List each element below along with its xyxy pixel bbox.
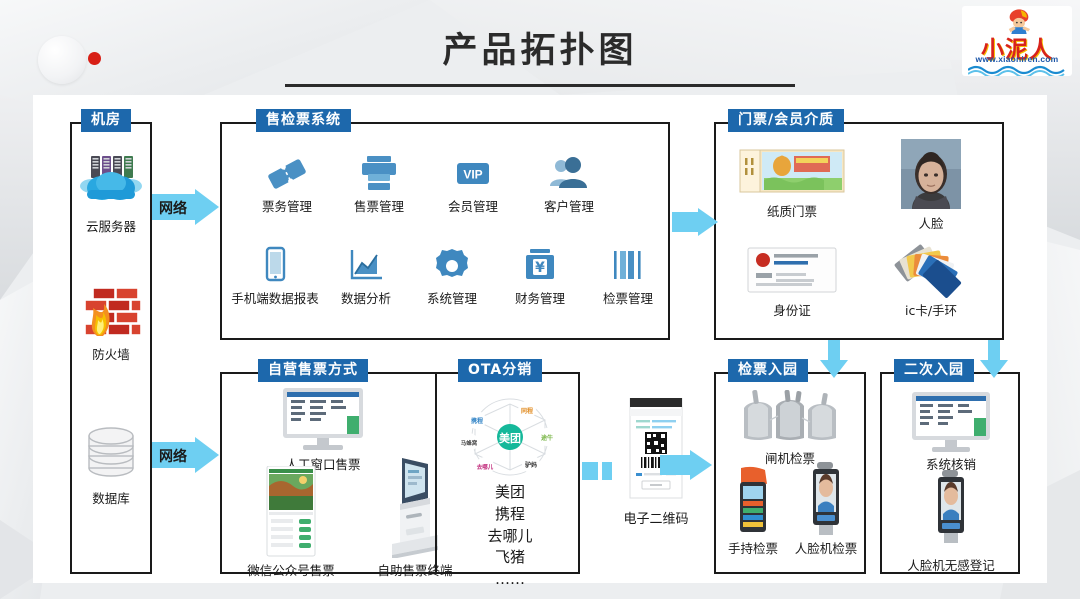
item-customer-mgmt: 客户管理 <box>522 154 616 215</box>
section-reentry: 二次入园 系统核销 <box>880 372 1020 574</box>
section-self-sales: 自营售票方式 人工窗口售票 <box>220 372 580 574</box>
item-firewall-label: 防火墙 <box>72 347 150 363</box>
item-data-analysis-label: 数据分析 <box>322 291 410 307</box>
item-id-card: 身份证 <box>728 242 856 319</box>
item-face-passive-label: 人脸机无感登记 <box>888 558 1014 574</box>
item-cloud-server: 云服务器 <box>72 152 150 235</box>
ota-partner-item: 去哪儿 <box>444 526 576 548</box>
face-terminal-icon <box>932 470 970 544</box>
arrowhead-icon <box>195 187 219 227</box>
section-self-sales-tag: 自营售票方式 <box>258 359 368 382</box>
item-data-analysis: 数据分析 <box>322 246 410 307</box>
printer-icon <box>357 154 401 194</box>
item-cloud-server-label: 云服务器 <box>72 219 150 235</box>
item-member-mgmt: VIP 会员管理 <box>426 154 520 215</box>
item-ticket-mgmt: 票务管理 <box>240 154 334 215</box>
wechat-phone-icon <box>257 466 325 558</box>
item-face-passive: 人脸机无感登记 <box>888 470 1014 574</box>
section-reentry-tag: 二次入园 <box>894 359 974 382</box>
face-photo-icon <box>900 138 962 210</box>
item-ic-card: ic卡/手环 <box>871 240 991 319</box>
item-face-terminal: 人脸机检票 <box>786 462 866 557</box>
svg-text:VIP: VIP <box>463 168 482 182</box>
section-check-in: 检票入园 闸机检票 <box>714 372 866 574</box>
item-ic-card-label: ic卡/手环 <box>871 303 991 319</box>
item-handheld: 手持检票 <box>714 466 792 557</box>
item-face-label: 人脸 <box>871 216 991 232</box>
desktop-monitor-icon <box>908 390 994 452</box>
item-database-label: 数据库 <box>72 491 150 507</box>
svg-text:¥: ¥ <box>535 260 545 276</box>
arrowhead-icon <box>690 448 712 482</box>
item-finance-mgmt: ¥ 财务管理 <box>496 246 584 307</box>
brand-logo: 小泥人 www.xiaoniren.com <box>962 6 1072 76</box>
chart-icon <box>344 246 388 286</box>
database-icon <box>80 424 142 486</box>
ticket-icon <box>265 154 309 194</box>
section-check-in-tag: 检票入园 <box>728 359 808 382</box>
mobile-icon <box>257 246 293 286</box>
svg-text:去哪儿: 去哪儿 <box>477 463 494 471</box>
ota-partner-list: 美团 携程 去哪儿 飞猪 …… <box>444 482 576 591</box>
item-mobile-report: 手机端数据报表 <box>226 246 324 307</box>
cloud-server-icon <box>78 152 144 214</box>
arrow-network-top-label: 网络 <box>159 198 187 218</box>
title-underline <box>285 84 795 87</box>
item-wechat-sales-label: 微信公众号售票 <box>224 563 358 579</box>
section-ticket-media-tag: 门票/会员介质 <box>728 109 844 132</box>
item-customer-mgmt-label: 客户管理 <box>522 199 616 215</box>
user-icon <box>546 154 592 194</box>
wave-icon <box>968 64 1066 76</box>
section-ticketing-system-tag: 售检票系统 <box>256 109 351 132</box>
arrow-media-to-checkin <box>820 340 848 378</box>
item-system-mgmt-label: 系统管理 <box>408 291 496 307</box>
item-database: 数据库 <box>72 424 150 507</box>
item-handheld-label: 手持检票 <box>714 541 792 557</box>
arrowhead-icon <box>195 435 219 475</box>
arrow-system-to-media <box>672 212 718 232</box>
svg-text:驴妈: 驴妈 <box>525 461 537 469</box>
item-ticket-mgmt-label: 票务管理 <box>240 199 334 215</box>
ota-network-icon: 美团 携程 同程 马蜂窝 途牛 去哪儿 驴 <box>455 392 565 482</box>
svg-text:同程: 同程 <box>521 407 533 415</box>
barcode-icon <box>607 246 649 286</box>
page-title-wrapper: 产品拓扑图 <box>0 22 1080 73</box>
turnstile-gate-icon <box>736 390 844 446</box>
logo-url-text: www.xiaoniren.com <box>962 54 1072 64</box>
face-terminal-icon <box>807 462 845 536</box>
arrow-sales-to-qr <box>582 462 614 480</box>
item-wechat-sales: 微信公众号售票 <box>224 466 358 579</box>
section-ticketing-system: 售检票系统 票务管理 售票管理 VIP 会员管理 <box>220 122 670 340</box>
item-paper-ticket: 纸质门票 <box>728 146 856 220</box>
item-paper-ticket-label: 纸质门票 <box>728 204 856 220</box>
arrow-media-to-reentry <box>980 340 1008 378</box>
item-member-mgmt-label: 会员管理 <box>426 199 520 215</box>
item-sales-mgmt: 售票管理 <box>332 154 426 215</box>
paper-ticket-icon <box>738 146 846 198</box>
item-system-mgmt: 系统管理 <box>408 246 496 307</box>
ota-partner-item: 携程 <box>444 504 576 526</box>
item-face: 人脸 <box>871 138 991 232</box>
item-sales-mgmt-label: 售票管理 <box>332 199 426 215</box>
finance-yuan-icon: ¥ <box>519 246 561 286</box>
svg-text:马蜂窝: 马蜂窝 <box>461 439 478 447</box>
section-server-room-tag: 机房 <box>81 109 131 132</box>
firewall-icon <box>79 284 143 342</box>
arrowhead-icon <box>698 206 718 238</box>
desktop-monitor-icon <box>277 386 369 452</box>
arrow-network-bottom-label: 网络 <box>159 446 187 466</box>
item-checkin-mgmt: 检票管理 <box>584 246 672 307</box>
vip-icon: VIP <box>449 154 497 194</box>
section-ota-tag: OTA分销 <box>458 359 542 382</box>
svg-text:途牛: 途牛 <box>541 434 553 442</box>
item-ota-network: 美团 携程 同程 马蜂窝 途牛 去哪儿 驴 <box>444 392 576 487</box>
section-ticket-media: 门票/会员介质 纸质门票 <box>714 122 1004 340</box>
item-mobile-report-label: 手机端数据报表 <box>226 291 324 307</box>
id-card-icon <box>746 242 838 298</box>
item-turnstile: 闸机检票 <box>722 390 858 467</box>
self-service-kiosk-icon <box>382 456 448 558</box>
handheld-pda-icon <box>731 466 775 536</box>
section-divider <box>435 372 437 574</box>
item-id-card-label: 身份证 <box>728 303 856 319</box>
svg-text:美团: 美团 <box>499 431 521 445</box>
ota-partner-item: 飞猪 <box>444 547 576 569</box>
item-qr-code-label: 电子二维码 <box>596 512 716 528</box>
ota-partner-item: 美团 <box>444 482 576 504</box>
gear-icon <box>431 246 473 286</box>
item-finance-mgmt-label: 财务管理 <box>496 291 584 307</box>
item-firewall: 防火墙 <box>72 284 150 363</box>
qr-code-phone-icon <box>628 398 684 504</box>
item-checkin-mgmt-label: 检票管理 <box>584 291 672 307</box>
ic-card-wristband-icon <box>892 240 970 298</box>
item-system-verify: 系统核销 <box>888 390 1014 473</box>
section-server-room: 机房 <box>70 122 152 574</box>
ota-partner-item: …… <box>444 569 576 591</box>
svg-text:携程: 携程 <box>471 417 483 425</box>
page-title: 产品拓扑图 <box>0 22 1080 73</box>
arrow-qr-to-checkin <box>660 455 712 475</box>
item-face-terminal-label: 人脸机检票 <box>786 541 866 557</box>
